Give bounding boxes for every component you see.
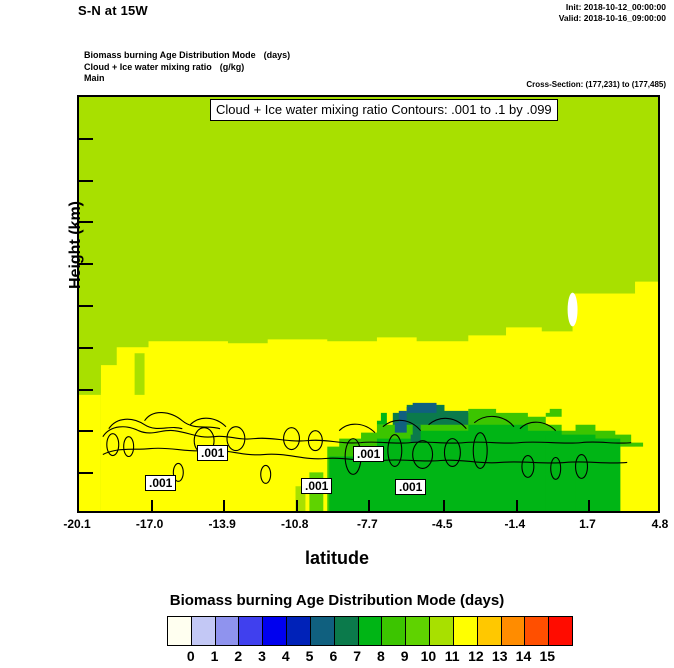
colorbar-tick-label: 11 <box>445 648 460 664</box>
colorbar-tick-label: 6 <box>329 648 337 664</box>
colorbar-title: Biomass burning Age Distribution Mode (d… <box>0 592 674 609</box>
contour-value-label: .001 <box>353 446 384 462</box>
x-tick-label: -20.1 <box>63 517 90 531</box>
colorbar-tick-label: 12 <box>468 648 484 664</box>
field-line-1: Biomass burning Age Distribution Mode(da… <box>84 50 290 62</box>
x-tick-label: -13.9 <box>208 517 235 531</box>
x-tick-label: -17.0 <box>136 517 163 531</box>
y-tick-mark <box>79 472 93 474</box>
colorbar-tick-label: 1 <box>211 648 219 664</box>
y-tick-mark <box>79 221 93 223</box>
x-tick-mark <box>368 500 370 511</box>
colorbar-cell <box>239 617 263 645</box>
colorbar-tick-label: 7 <box>353 648 361 664</box>
colorbar-tick-label: 5 <box>306 648 314 664</box>
colorbar-tick-label: 0 <box>187 648 195 664</box>
colorbar-cell <box>549 617 572 645</box>
contour-value-label: .001 <box>145 475 176 491</box>
colorbar-cell <box>430 617 454 645</box>
field-description-block: Biomass burning Age Distribution Mode(da… <box>84 50 290 85</box>
colorbar-cell <box>311 617 335 645</box>
x-tick-mark <box>443 500 445 511</box>
colorbar-tick-label: 13 <box>492 648 508 664</box>
cross-section-plot: Cloud + Ice water mixing ratio Contours:… <box>77 95 660 513</box>
x-tick-mark <box>223 500 225 511</box>
field-1-unit: (days) <box>264 50 291 60</box>
colorbar-tick-label: 2 <box>234 648 242 664</box>
valid-time: Valid: 2018-10-16_09:00:00 <box>559 13 666 24</box>
colorbar-cell <box>406 617 430 645</box>
colorbar <box>167 616 573 646</box>
field-line-2: Cloud + Ice water mixing ratio(g/kg) <box>84 62 290 74</box>
field-2-name: Cloud + Ice water mixing ratio <box>84 62 212 72</box>
colorbar-tick-label: 10 <box>421 648 437 664</box>
colorbar-cell <box>382 617 406 645</box>
x-tick-label: -1.4 <box>504 517 525 531</box>
x-tick-mark <box>588 500 590 511</box>
x-tick-label: -4.5 <box>432 517 453 531</box>
field-1-name: Biomass burning Age Distribution Mode <box>84 50 256 60</box>
colorbar-cell <box>263 617 287 645</box>
y-tick-mark <box>79 347 93 349</box>
init-time: Init: 2018-10-12_00:00:00 <box>559 2 666 13</box>
x-tick-label: -7.7 <box>357 517 378 531</box>
colorbar-cell <box>478 617 502 645</box>
colorbar-tick-label: 14 <box>516 648 532 664</box>
y-axis-label: Height (km) <box>67 165 85 325</box>
colorbar-cell <box>525 617 549 645</box>
x-tick-label: -10.8 <box>281 517 308 531</box>
cross-section-endpoints: Cross-Section: (177,231) to (177,485) <box>526 80 666 89</box>
y-tick-mark <box>79 305 93 307</box>
x-tick-label: 1.7 <box>579 517 596 531</box>
colorbar-cell <box>454 617 478 645</box>
field-2-unit: (g/kg) <box>220 62 245 72</box>
colorbar-cell <box>335 617 359 645</box>
contour-value-label: .001 <box>301 478 332 494</box>
x-tick-mark <box>151 500 153 511</box>
colorbar-cell <box>359 617 383 645</box>
y-tick-mark <box>79 180 93 182</box>
colorbar-tick-label: 4 <box>282 648 290 664</box>
y-tick-mark <box>79 263 93 265</box>
colorbar-cell <box>287 617 311 645</box>
x-axis-label: latitude <box>0 548 674 569</box>
colorbar-cell <box>192 617 216 645</box>
contour-value-label: .001 <box>395 479 426 495</box>
colorbar-tick-labels: 0123456789101112131415 <box>167 648 571 666</box>
contour-title-box: Cloud + Ice water mixing ratio Contours:… <box>210 99 558 121</box>
y-tick-mark <box>79 138 93 140</box>
colorbar-tick-label: 8 <box>377 648 385 664</box>
forecast-time-block: Init: 2018-10-12_00:00:00 Valid: 2018-10… <box>559 2 666 24</box>
y-tick-mark <box>79 430 93 432</box>
colorbar-cell <box>502 617 526 645</box>
contour-value-label: .001 <box>197 445 228 461</box>
colorbar-cell <box>168 617 192 645</box>
colorbar-tick-label: 9 <box>401 648 409 664</box>
colorbar-tick-label: 15 <box>539 648 555 664</box>
x-tick-mark <box>516 500 518 511</box>
colorbar-tick-label: 3 <box>258 648 266 664</box>
y-tick-mark <box>79 389 93 391</box>
field-line-3: Main <box>84 73 290 85</box>
x-tick-mark <box>296 500 298 511</box>
x-tick-label: 4.8 <box>652 517 669 531</box>
page-title: S-N at 15W <box>78 3 148 18</box>
colorbar-cell <box>216 617 240 645</box>
